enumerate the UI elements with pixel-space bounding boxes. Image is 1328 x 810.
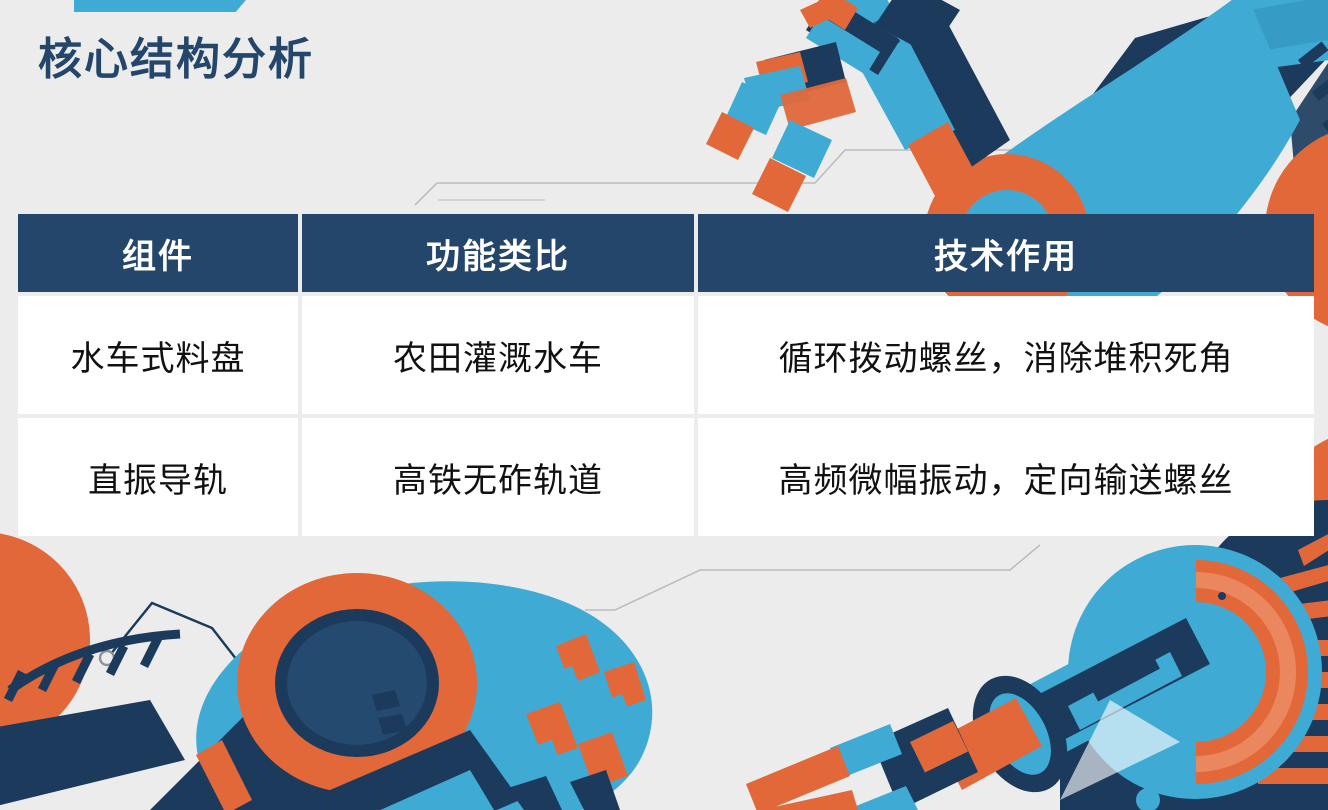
comparison-table: 组件 功能类比 技术作用 水车式料盘 农田灌溉水车 循环拨动螺丝，消除堆积死角 … [14, 210, 1318, 540]
circle-shape [0, 532, 90, 748]
circuit-node [100, 651, 114, 665]
table-header-analogy: 功能类比 [302, 214, 694, 292]
table-header-function: 技术作用 [698, 214, 1314, 292]
accent-tab [74, 0, 246, 12]
table-row: 水车式料盘 农田灌溉水车 循环拨动螺丝，消除堆积死角 [18, 296, 1314, 414]
cell-function: 高频微幅振动，定向输送螺丝 [698, 418, 1314, 536]
page-title: 核心结构分析 [38, 36, 314, 84]
cell-component: 水车式料盘 [18, 296, 298, 414]
circuit-line-decoration [110, 603, 240, 664]
table-row: 直振导轨 高铁无砟轨道 高频微幅振动，定向输送螺丝 [18, 418, 1314, 536]
cell-analogy: 农田灌溉水车 [302, 296, 694, 414]
cell-analogy: 高铁无砟轨道 [302, 418, 694, 536]
cell-function: 循环拨动螺丝，消除堆积死角 [698, 296, 1314, 414]
table-header-component: 组件 [18, 214, 298, 292]
table-header-row: 组件 功能类比 技术作用 [18, 214, 1314, 292]
robot-arm-icon [0, 573, 652, 810]
cell-component: 直振导轨 [18, 418, 298, 536]
robot-gripper-icon [746, 500, 1328, 810]
